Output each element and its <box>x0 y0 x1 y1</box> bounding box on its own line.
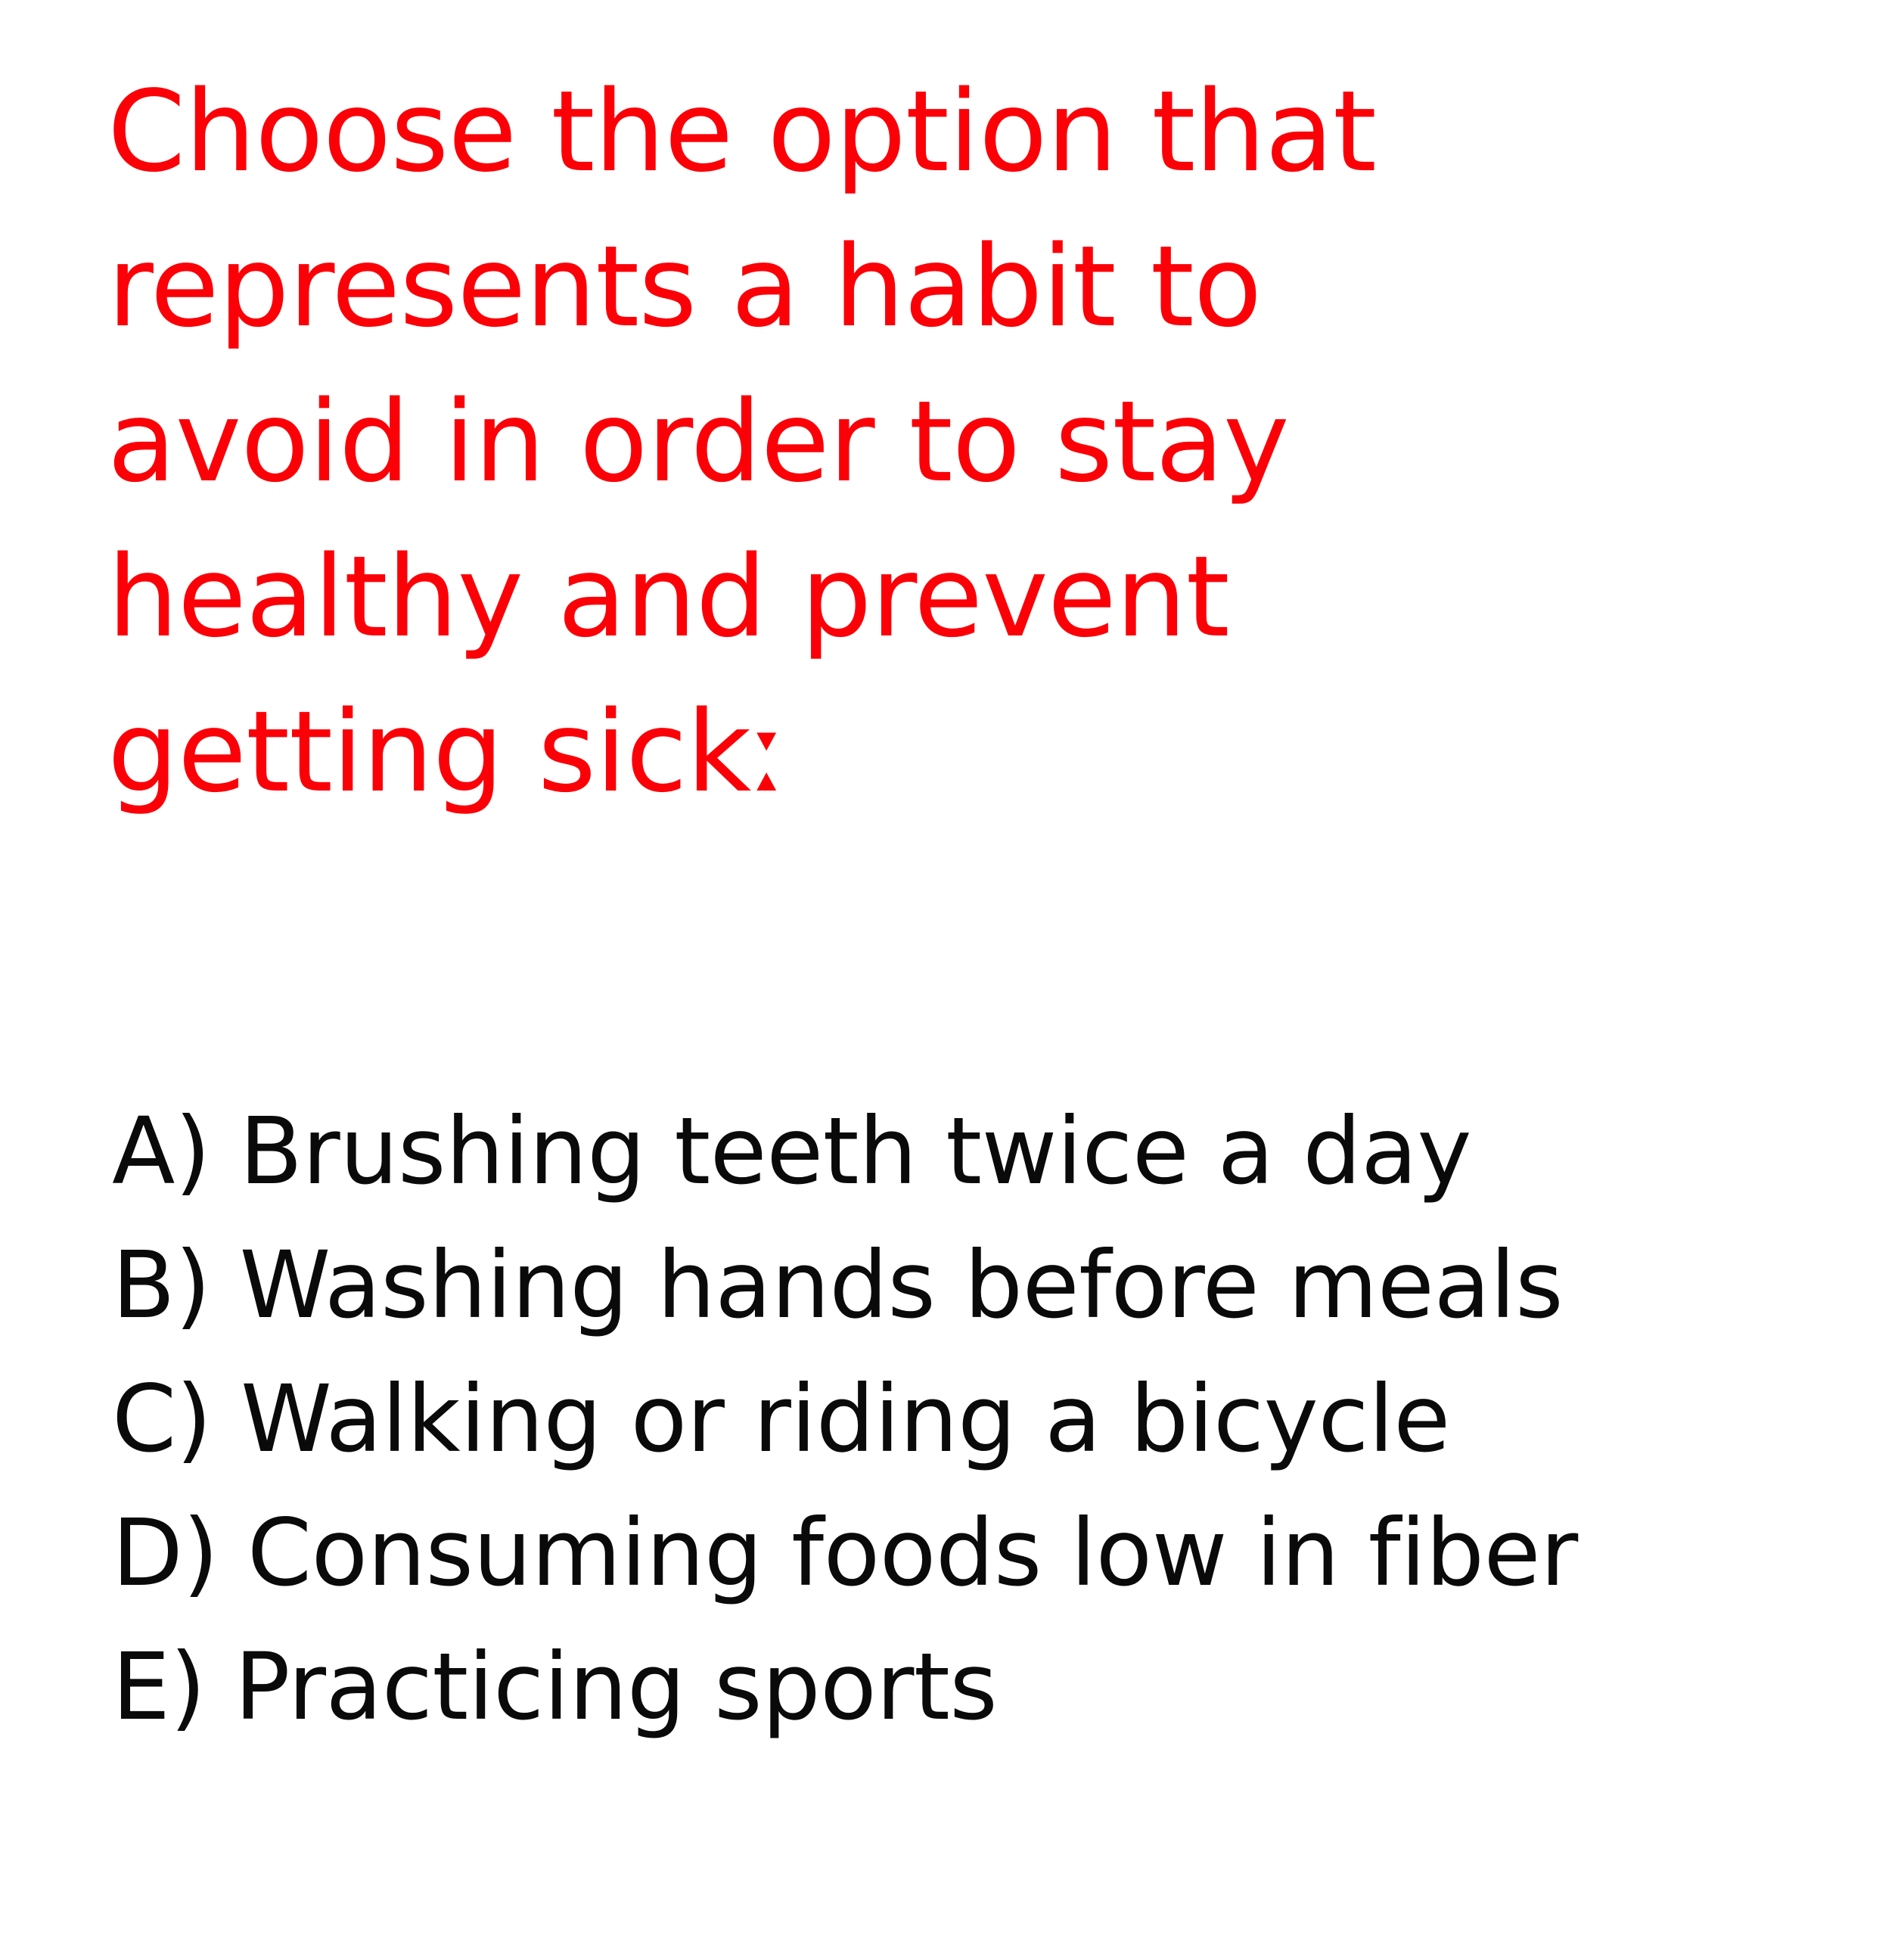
question-line-3: avoid in order to stay <box>107 365 1772 520</box>
option-e-label: Practicing sports <box>235 1633 997 1741</box>
option-b-letter: B) <box>112 1232 210 1339</box>
option-c-label: Walking or riding a bicycle <box>241 1365 1450 1473</box>
option-b-label: Washing hands before meals <box>240 1232 1564 1339</box>
option-d[interactable]: D) Consuming foods low in fiber <box>112 1487 1814 1620</box>
option-e[interactable]: E) Practicing sports <box>112 1620 1814 1754</box>
answer-options-list: A) Brushing teeth twice a day B) Washing… <box>112 1085 1814 1754</box>
option-c-letter: C) <box>112 1365 212 1473</box>
option-a[interactable]: A) Brushing teeth twice a day <box>112 1085 1814 1219</box>
question-line-1: Choose the option that <box>107 54 1772 210</box>
option-b[interactable]: B) Washing hands before meals <box>112 1219 1814 1353</box>
question-prompt: Choose the option that represents a habi… <box>107 54 1772 830</box>
option-d-label: Consuming foods low in fiber <box>247 1499 1578 1607</box>
option-c[interactable]: C) Walking or riding a bicycle <box>112 1353 1814 1487</box>
quiz-question-page: Choose the option that represents a habi… <box>0 0 1904 1951</box>
option-a-letter: A) <box>112 1098 210 1205</box>
question-line-2: represents a habit to <box>107 210 1772 365</box>
option-e-letter: E) <box>112 1633 206 1741</box>
option-d-letter: D) <box>112 1499 219 1607</box>
option-a-label: Brushing teeth twice a day <box>239 1098 1471 1205</box>
question-line-5: getting sickː <box>107 675 1772 830</box>
question-line-4: healthy and prevent <box>107 520 1772 675</box>
